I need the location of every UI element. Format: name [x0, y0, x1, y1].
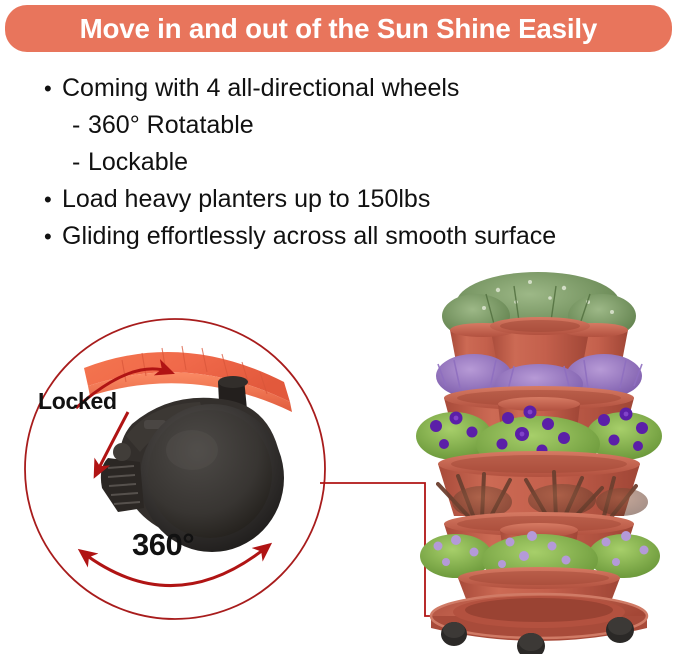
- bullet-dot-icon: •: [44, 181, 62, 218]
- locked-label: Locked: [38, 388, 117, 415]
- list-item-label: Load heavy planters up to 150lbs: [62, 181, 430, 218]
- stackable-planter-tower: [398, 268, 679, 654]
- rotation-label: 360°: [132, 527, 194, 563]
- feature-list: • Coming with 4 all-directional wheels -…: [44, 70, 674, 255]
- bullet-dot-icon: •: [44, 218, 62, 255]
- header-banner: Move in and out of the Sun Shine Easily: [5, 5, 672, 52]
- page-title: Move in and out of the Sun Shine Easily: [80, 13, 597, 45]
- list-item-label: 360° Rotatable: [88, 107, 254, 144]
- bullet-dash-icon: -: [72, 107, 88, 144]
- list-item: - Lockable: [44, 144, 674, 181]
- list-item-label: Gliding effortlessly across all smooth s…: [62, 218, 556, 255]
- list-item: - 360° Rotatable: [44, 107, 674, 144]
- caster-stem-cap: [218, 376, 248, 388]
- caster-callout: [22, 316, 328, 622]
- list-item-label: Coming with 4 all-directional wheels: [62, 70, 459, 107]
- bullet-dot-icon: •: [44, 70, 62, 107]
- bullet-dash-icon: -: [72, 144, 88, 181]
- base-caster-wheel: [441, 622, 467, 646]
- list-item: • Gliding effortlessly across all smooth…: [44, 218, 674, 255]
- base-caster-wheel: [606, 617, 634, 643]
- caster-callout-illustration: [22, 316, 328, 622]
- list-item-label: Lockable: [88, 144, 188, 181]
- list-item: • Load heavy planters up to 150lbs: [44, 181, 674, 218]
- rolling-base-caddy: [431, 594, 647, 654]
- list-item: • Coming with 4 all-directional wheels: [44, 70, 674, 107]
